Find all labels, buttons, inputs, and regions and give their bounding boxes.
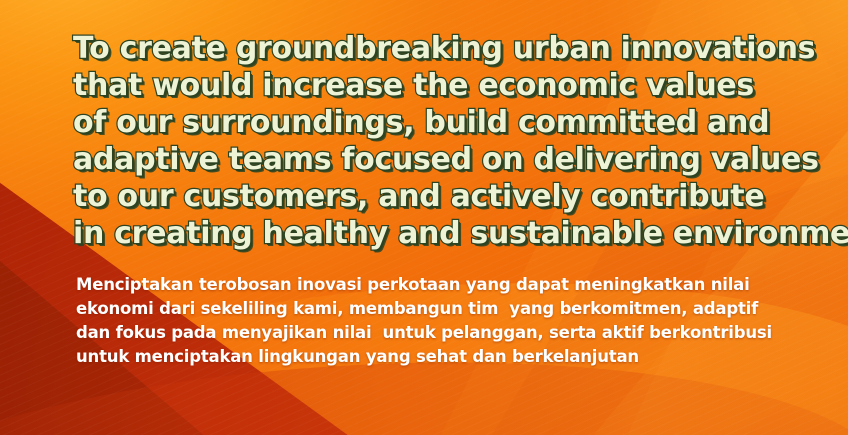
subtitle-line: dan fokus pada menyajikan nilai untuk pe… — [76, 321, 848, 345]
subtitle-line: ekonomi dari sekeliling kami, membangun … — [76, 297, 848, 321]
headline-line: that would increase the economic values — [73, 67, 848, 104]
subtitle-line: untuk menciptakan lingkungan yang sehat … — [76, 345, 848, 369]
headline-line: to our customers, and actively contribut… — [73, 178, 848, 215]
headline-block: To create groundbreaking urban innovatio… — [73, 30, 848, 252]
subtitle-line: Menciptakan terobosan inovasi perkotaan … — [76, 273, 848, 297]
slide-content: To create groundbreaking urban innovatio… — [0, 0, 848, 435]
headline-line: of our surroundings, build committed and — [73, 104, 848, 141]
vision-slide: To create groundbreaking urban innovatio… — [0, 0, 848, 435]
headline-line: in creating healthy and sustainable envi… — [73, 215, 848, 252]
headline-line: To create groundbreaking urban innovatio… — [73, 30, 848, 67]
headline-line: adaptive teams focused on delivering val… — [73, 141, 848, 178]
subtitle-block: Menciptakan terobosan inovasi perkotaan … — [76, 273, 848, 369]
